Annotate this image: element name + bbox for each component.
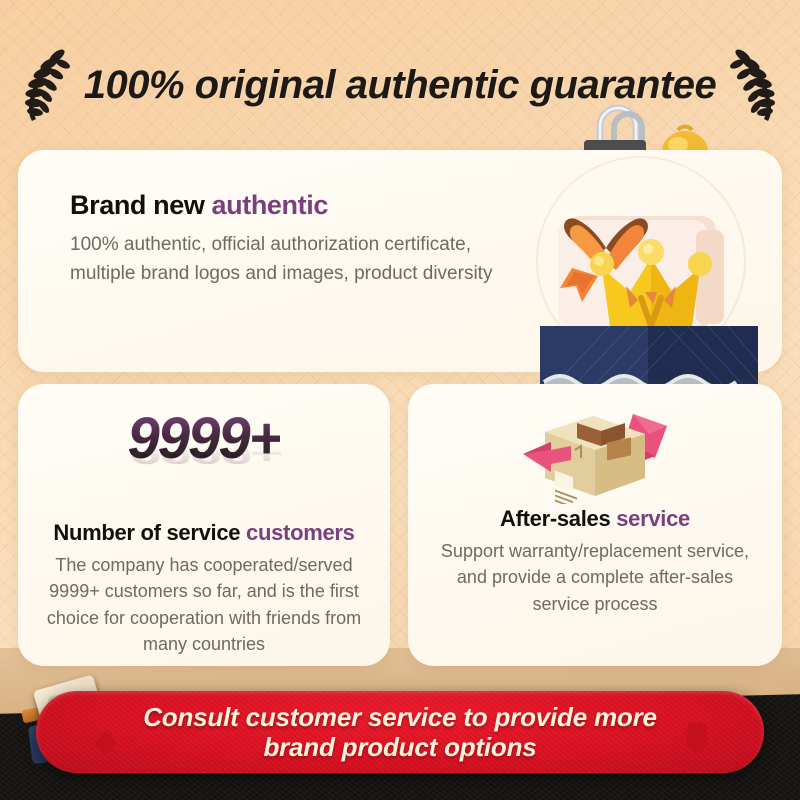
top-card-heading-main: Brand new bbox=[70, 190, 212, 220]
big-number-block: 9999+ 9999+ bbox=[18, 410, 390, 527]
right-card-heading: After-sales service bbox=[408, 506, 782, 532]
cta-banner[interactable]: Consult customer service to provide more… bbox=[36, 691, 764, 773]
top-card-body: 100% authentic, official authorization c… bbox=[70, 231, 500, 289]
parcel-box-with-return-arrows-illustration bbox=[515, 398, 675, 504]
card-after-sales-service: After-sales service Support warranty/rep… bbox=[408, 384, 782, 666]
laurel-branch-left-icon bbox=[16, 45, 70, 125]
right-card-heading-main: After-sales bbox=[500, 506, 616, 531]
cta-text: Consult customer service to provide more… bbox=[73, 702, 727, 762]
cta-line-1: Consult customer service to provide more bbox=[143, 702, 657, 732]
gift-box-with-crown-illustration bbox=[514, 176, 784, 406]
big-number: 9999+ bbox=[128, 410, 281, 468]
card-brand-new-authentic: Brand new authentic 100% authentic, offi… bbox=[18, 150, 782, 372]
left-card-heading-main: Number of service bbox=[53, 520, 246, 545]
card-service-customers: 9999+ 9999+ Number of service customers … bbox=[18, 384, 390, 666]
left-card-heading-accent: customers bbox=[246, 520, 355, 545]
left-card-heading: Number of service customers bbox=[18, 520, 390, 546]
laurel-branch-right-icon bbox=[730, 45, 784, 125]
cta-line-2: brand product options bbox=[263, 732, 536, 762]
promo-poster: 100% original authentic guarantee bbox=[0, 0, 800, 800]
top-card-copy: Brand new authentic 100% authentic, offi… bbox=[70, 190, 500, 289]
top-card-heading: Brand new authentic bbox=[70, 190, 500, 221]
right-card-body: Support warranty/replacement service, an… bbox=[434, 538, 756, 617]
top-card-heading-accent: authentic bbox=[212, 190, 328, 220]
right-card-heading-accent: service bbox=[616, 506, 690, 531]
left-card-body: The company has cooperated/served 9999+ … bbox=[44, 552, 364, 657]
